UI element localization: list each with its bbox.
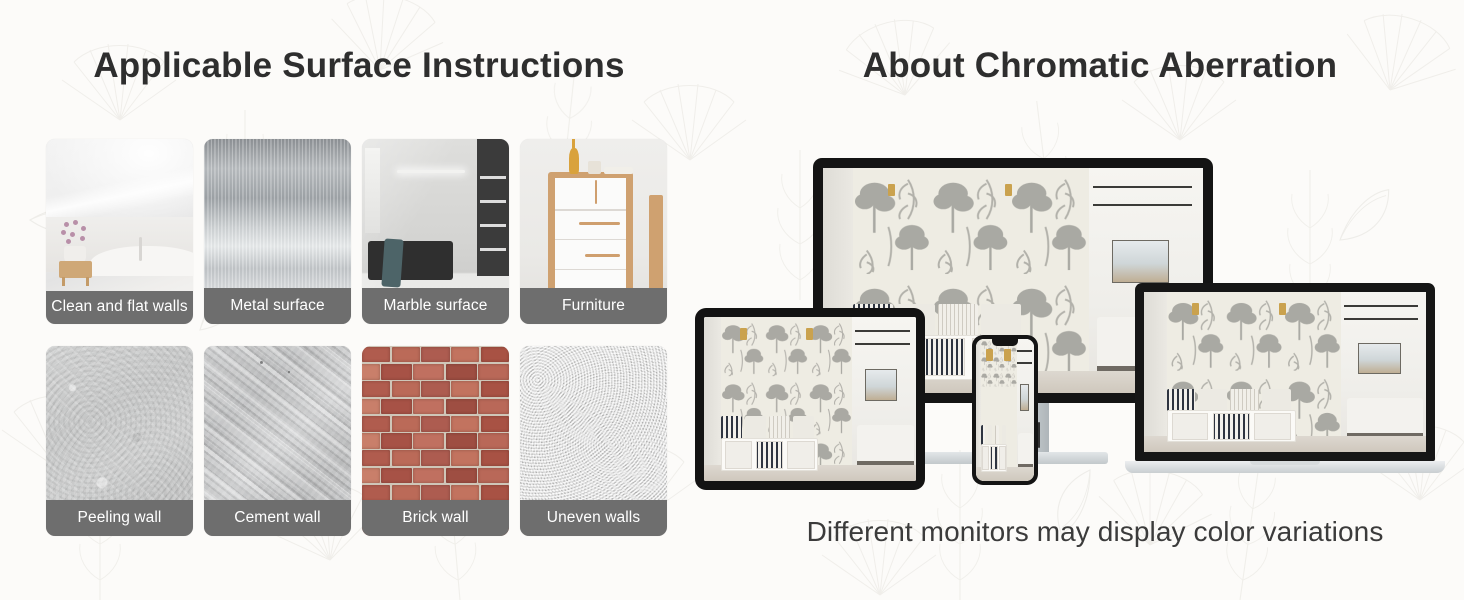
- device-tablet: [695, 308, 925, 490]
- surface-tile-label: Cement wall: [204, 500, 351, 536]
- phone-screen: [976, 339, 1034, 481]
- surface-tile-cement-wall[interactable]: Cement wall: [204, 346, 351, 536]
- device-smartphone: [972, 335, 1038, 485]
- surface-tile-label: Furniture: [520, 288, 667, 324]
- phone-side-button: [1038, 422, 1040, 448]
- promo-graphic: Applicable Surface Instructions Clean an…: [0, 0, 1464, 600]
- surface-tile-label: Metal surface: [204, 288, 351, 324]
- chromatic-aberration-caption: Different monitors may display color var…: [700, 516, 1464, 548]
- surface-tile-clean-and-flat-walls[interactable]: Clean and flat walls: [46, 139, 193, 324]
- surface-tile-label: Marble surface: [362, 288, 509, 324]
- surface-tile-metal-surface[interactable]: Metal surface: [204, 139, 351, 324]
- surface-tile-brick-wall[interactable]: Brick wall: [362, 346, 509, 536]
- device-laptop: [1125, 283, 1445, 480]
- laptop-trackpad-notch: [1250, 461, 1320, 465]
- device-mockup-group: [700, 0, 1464, 600]
- page-title-applicable-surfaces: Applicable Surface Instructions: [0, 46, 700, 86]
- surface-tile-label: Brick wall: [362, 500, 509, 536]
- surface-tile-furniture[interactable]: Furniture: [520, 139, 667, 324]
- laptop-screen: [1144, 292, 1426, 452]
- surface-tile-label: Peeling wall: [46, 500, 193, 536]
- surface-tile-label: Clean and flat walls: [46, 291, 193, 324]
- tablet-screen: [704, 317, 916, 481]
- surface-tile-marble-surface[interactable]: Marble surface: [362, 139, 509, 324]
- surface-tile-grid: Clean and flat walls Metal surface M: [46, 139, 672, 536]
- chromatic-aberration-section: About Chromatic Aberration: [700, 0, 1464, 600]
- surface-tile-label: Uneven walls: [520, 500, 667, 536]
- phone-notch: [992, 339, 1018, 346]
- surface-tile-uneven-walls[interactable]: Uneven walls: [520, 346, 667, 536]
- surface-tile-peeling-wall[interactable]: Peeling wall: [46, 346, 193, 536]
- applicable-surfaces-section: Applicable Surface Instructions Clean an…: [0, 0, 700, 600]
